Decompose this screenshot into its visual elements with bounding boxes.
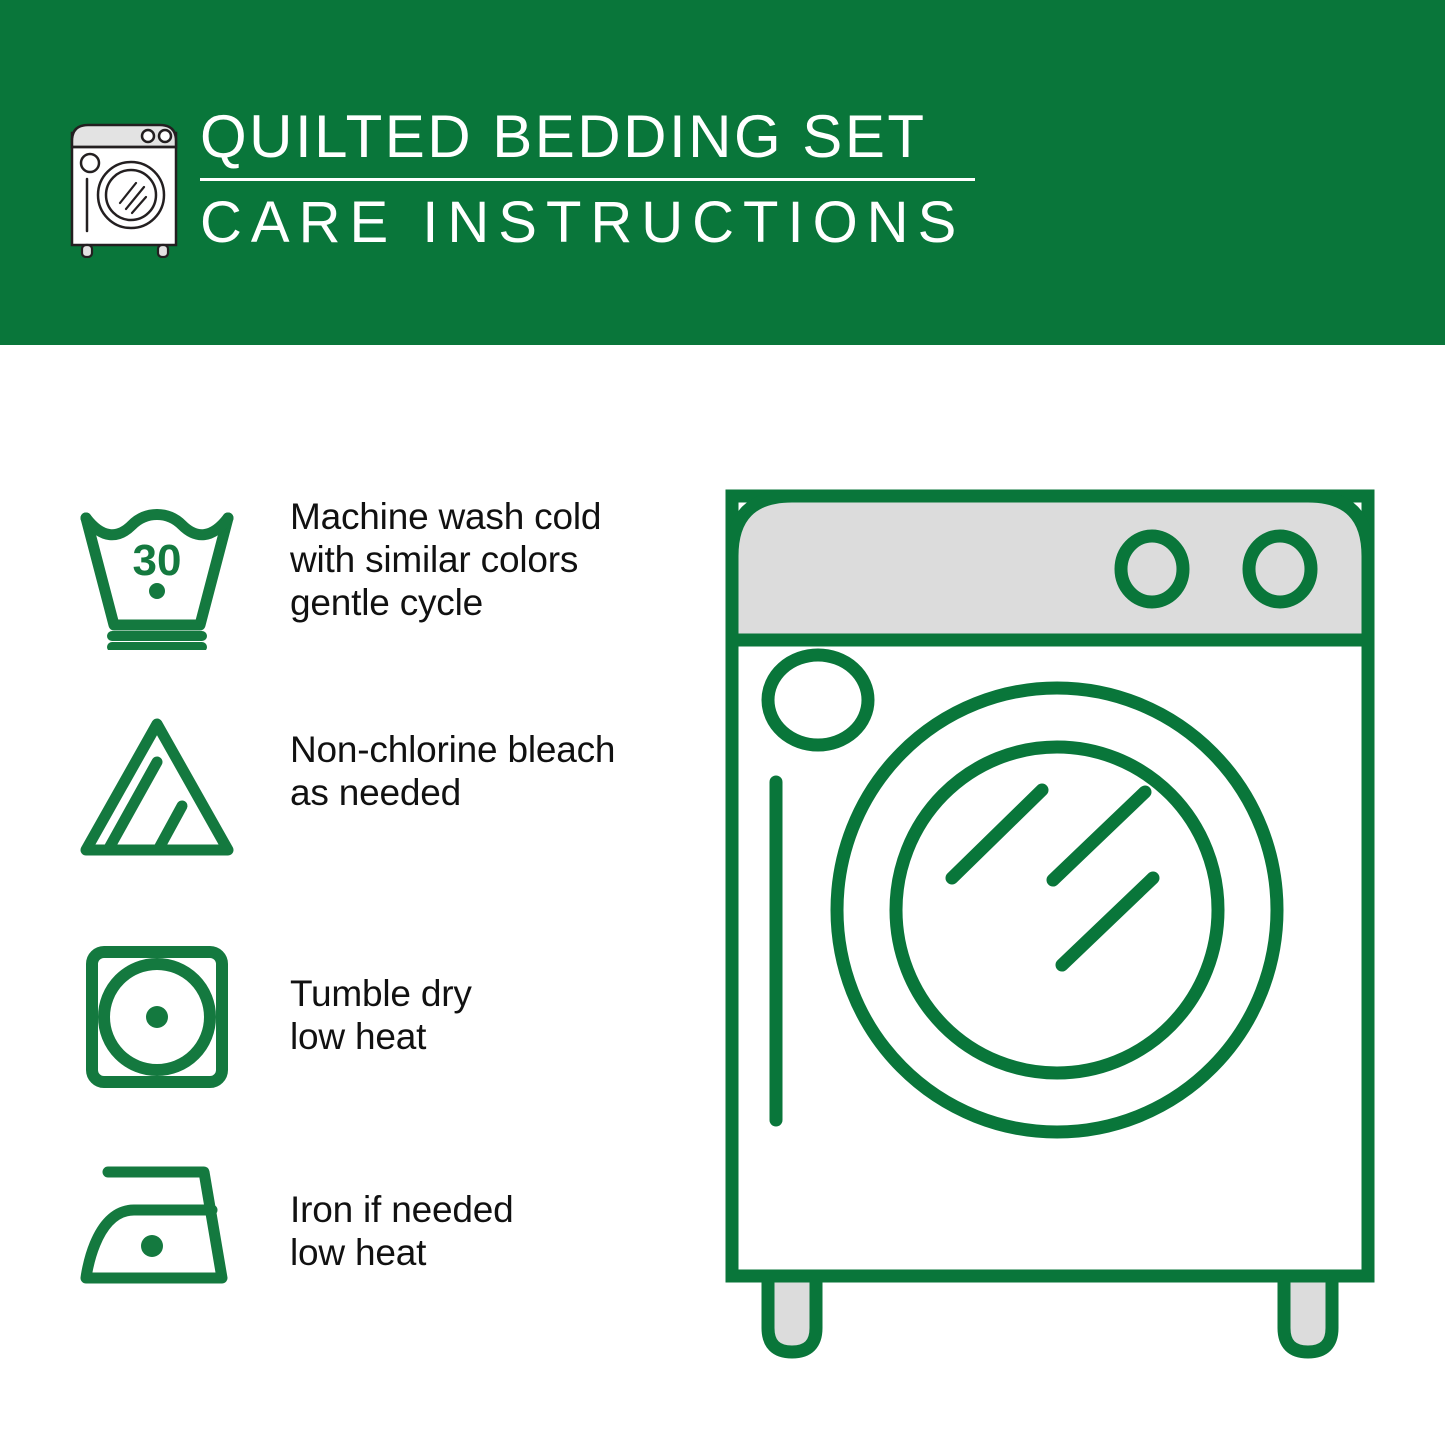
care-line: low heat [290,1015,690,1058]
wash-tub-30-gentle-icon: 30 [72,495,242,650]
care-row-machine-wash: 30 Machine wash cold with similar colors… [0,495,700,675]
care-instruction-list: 30 Machine wash cold with similar colors… [0,345,700,1445]
header-banner: QUILTED BEDDING SET CARE INSTRUCTIONS [0,0,1445,345]
care-line: Machine wash cold [290,495,690,538]
header-title-group: QUILTED BEDDING SET CARE INSTRUCTIONS [200,103,1000,263]
care-text-bleach: Non-chlorine bleach as needed [290,728,690,814]
care-line: Tumble dry [290,972,690,1015]
page-subtitle: CARE INSTRUCTIONS [200,190,1000,256]
care-row-tumble-dry: Tumble dry low heat [0,940,700,1120]
wash-dot [149,583,165,599]
care-text-tumble-dry: Tumble dry low heat [290,972,690,1058]
washing-machine-logo-icon [62,103,190,258]
tumble-dry-low-icon [72,940,242,1095]
care-line: as needed [290,771,690,814]
leg-right [1284,1276,1332,1352]
control-knob-left [1121,536,1183,602]
care-line: gentle cycle [290,581,690,624]
care-text-iron: Iron if needed low heat [290,1188,690,1274]
iron-low-heat-icon [72,1150,242,1305]
front-load-washing-machine-illustration [700,460,1445,1380]
door-drum-inner [896,747,1218,1073]
page-title: QUILTED BEDDING SET [200,103,1000,171]
care-line: low heat [290,1231,690,1274]
care-line: Non-chlorine bleach [290,728,690,771]
care-text-machine-wash: Machine wash cold with similar colors ge… [290,495,690,624]
care-row-iron: Iron if needed low heat [0,1150,700,1330]
control-knob-right [1249,536,1311,602]
detergent-dispenser-circle [768,655,868,745]
care-row-bleach: Non-chlorine bleach as needed [0,710,700,890]
care-line: Iron if needed [290,1188,690,1231]
wash-temperature-value: 30 [133,536,182,585]
care-instructions-page: QUILTED BEDDING SET CARE INSTRUCTIONS 30 [0,0,1445,1445]
care-line: with similar colors [290,538,690,581]
title-divider [200,178,975,181]
leg-left [768,1276,816,1352]
non-chlorine-bleach-triangle-icon [72,710,242,865]
